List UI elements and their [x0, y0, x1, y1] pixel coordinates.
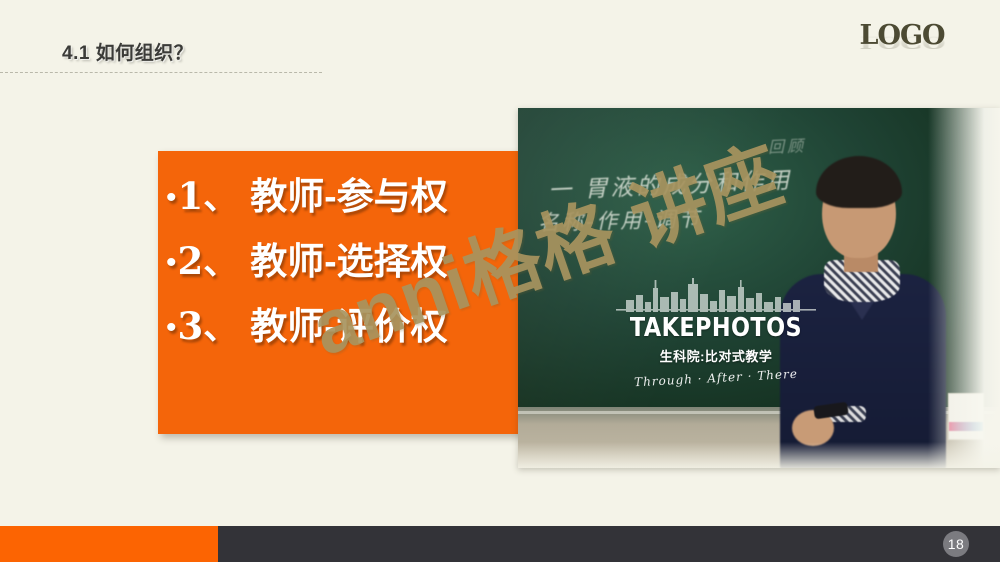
chalk-handwriting-line-2: 名称-作用-调节 [538, 203, 703, 237]
page-number-badge: 18 [943, 531, 969, 557]
bullet-label: 教师-评价权 [250, 308, 447, 345]
logo: LOGO LOGO [842, 22, 962, 77]
bullet-separator: 、 [203, 310, 244, 345]
bullet-number: 3 [178, 308, 204, 345]
list-item: • 2 、 教师-选择权 [166, 243, 448, 280]
bullet-dot-icon: • [166, 248, 177, 278]
footer-dark-block [218, 526, 1000, 562]
title-divider [0, 72, 322, 73]
bullet-label: 教师-参与权 [250, 178, 447, 215]
footer-bar: 18 [0, 526, 1000, 562]
photo-bottom-fade [518, 442, 1000, 468]
bullet-number: 2 [178, 243, 204, 280]
bullet-label: 教师-选择权 [250, 243, 447, 280]
bullet-dot-icon: • [166, 183, 177, 213]
footer-accent-block [0, 526, 218, 562]
bullet-separator: 、 [203, 180, 244, 215]
page-title: 4.1 如何组织？ [62, 38, 193, 65]
bullet-number: 1 [178, 178, 204, 215]
photo-right-fade [928, 108, 1000, 468]
logo-reflection: LOGO [842, 33, 962, 50]
teacher-hair [816, 156, 902, 208]
bullet-separator: 、 [203, 245, 244, 280]
slide-canvas: 4.1 如何组织？ LOGO LOGO • 1 、 教师-参与权 • 2 、 教… [0, 0, 1000, 562]
list-item: • 1 、 教师-参与权 [166, 178, 448, 215]
lecture-photo: 一 胃液的成分和作用 名称-作用-调节 回顾 [518, 108, 1000, 468]
list-item: • 3 、 教师-评价权 [166, 308, 448, 345]
content-box: • 1 、 教师-参与权 • 2 、 教师-选择权 • 3 、 教师-评价权 [158, 151, 520, 434]
bullet-dot-icon: • [166, 313, 177, 343]
